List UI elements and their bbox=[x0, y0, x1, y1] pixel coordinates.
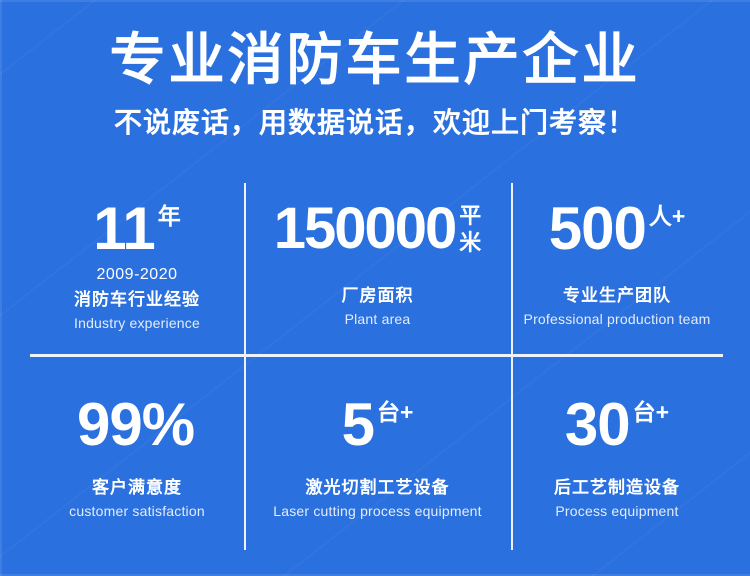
stat-value: 500 bbox=[549, 199, 646, 259]
stat-value: 150000 bbox=[274, 199, 456, 259]
stat-label-cn: 后工艺制造设备 bbox=[554, 477, 680, 499]
banner-header: 专业消防车生产企业 不说废话，用数据说话，欢迎上门考察！ bbox=[0, 0, 750, 140]
stat-card-laser-cutting-equipment: 5 台+ 激光切割工艺设备 Laser cutting process equi… bbox=[244, 354, 511, 550]
stat-value-row: 11 年 bbox=[93, 199, 180, 259]
stat-card-plant-area: 150000 平 米 厂房面积 Plant area bbox=[244, 183, 511, 354]
stat-value: 5 bbox=[342, 395, 374, 455]
stat-label-cn: 激光切割工艺设备 bbox=[306, 477, 450, 499]
stat-value-row: 500 人+ bbox=[549, 199, 686, 259]
stat-card-production-team: 500 人+ 专业生产团队 Professional production te… bbox=[511, 183, 723, 354]
stat-label-cn: 客户满意度 bbox=[92, 477, 182, 499]
stat-value-row: 30 台+ bbox=[565, 395, 669, 455]
stat-value-row: 150000 平 米 bbox=[274, 199, 482, 259]
stat-unit: 年 bbox=[158, 203, 181, 229]
stat-label-cn: 专业生产团队 bbox=[563, 285, 671, 307]
stat-label-cn: 厂房面积 bbox=[342, 285, 414, 307]
stat-unit: 人+ bbox=[649, 203, 685, 229]
stat-label-en: customer satisfaction bbox=[69, 502, 205, 521]
page-subtitle: 不说废话，用数据说话，欢迎上门考察！ bbox=[0, 106, 750, 140]
stat-year-range: 2009-2020 bbox=[96, 265, 177, 285]
stat-label-en: Industry experience bbox=[74, 314, 200, 333]
stat-unit: 台+ bbox=[633, 399, 669, 425]
stat-value: 99% bbox=[77, 395, 194, 455]
stat-label-en: Laser cutting process equipment bbox=[273, 502, 482, 521]
stat-unit: 台+ bbox=[377, 399, 413, 425]
stat-label-en: Professional production team bbox=[524, 310, 711, 329]
stat-unit-line-1: 平 bbox=[459, 202, 481, 229]
stat-card-process-equipment: 30 台+ 后工艺制造设备 Process equipment bbox=[511, 354, 723, 550]
stat-label-cn: 消防车行业经验 bbox=[74, 289, 200, 311]
stat-unit: 平 米 bbox=[459, 202, 481, 256]
stat-card-industry-experience: 11 年 2009-2020 消防车行业经验 Industry experien… bbox=[30, 183, 244, 354]
stat-label-en: Process equipment bbox=[555, 502, 678, 521]
stats-grid: 11 年 2009-2020 消防车行业经验 Industry experien… bbox=[30, 183, 723, 550]
stat-value: 30 bbox=[565, 395, 630, 455]
page-title: 专业消防车生产企业 bbox=[0, 28, 750, 92]
stat-unit-line-2: 米 bbox=[459, 229, 481, 256]
stat-label-en: Plant area bbox=[345, 310, 411, 329]
stat-value: 11 bbox=[93, 199, 154, 259]
stat-card-customer-satisfaction: 99% 客户满意度 customer satisfaction bbox=[30, 354, 244, 550]
stat-value-row: 99% bbox=[77, 395, 197, 455]
stat-value-row: 5 台+ bbox=[342, 395, 414, 455]
company-stats-banner: 专业消防车生产企业 不说废话，用数据说话，欢迎上门考察！ 11 年 2009-2… bbox=[0, 0, 750, 576]
